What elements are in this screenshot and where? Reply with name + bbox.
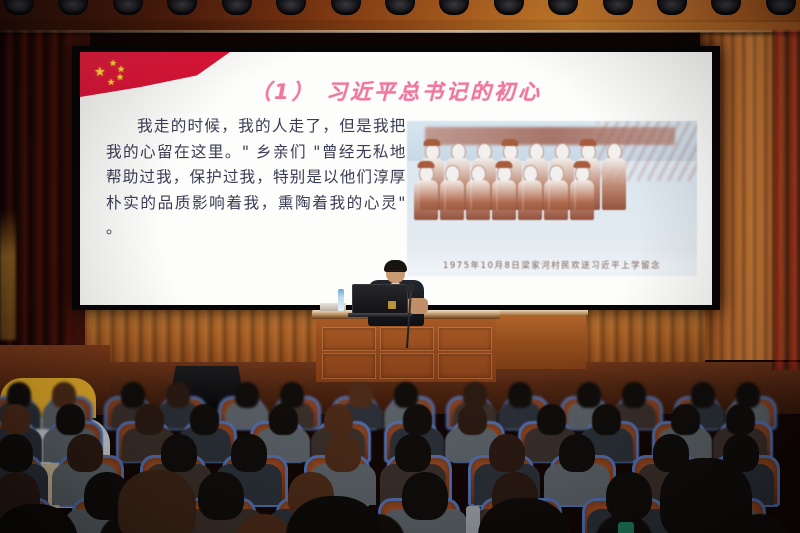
audience-person-head <box>231 434 267 472</box>
laptop-lid <box>352 284 408 314</box>
slide-body-text: 我走的时候，我的人走了，但是我把我的心留在这里。" 乡亲们 "曾经无私地帮助过我… <box>106 114 406 242</box>
photo-caption: 1975年10月8日梁家河村民欢送习近平上学留念 <box>407 259 697 271</box>
ceiling-spotlight-row <box>0 0 800 16</box>
photo-front-row <box>413 165 595 220</box>
audience-person-head <box>325 434 361 472</box>
audience-area <box>0 378 800 533</box>
presenter-glasses <box>387 270 404 275</box>
side-table-top <box>496 310 588 315</box>
flag-star-small-1: ★ <box>109 59 117 68</box>
photo-figure-body <box>518 180 542 220</box>
stage-spotlight-3 <box>113 0 143 15</box>
audience-person-head <box>349 382 373 408</box>
audience-person-head <box>235 382 259 408</box>
photo-figure <box>602 143 626 210</box>
photo-figure <box>492 165 516 220</box>
photo-figure <box>570 165 594 220</box>
stage-spotlight-1 <box>4 0 34 15</box>
audience-person-head <box>458 404 487 435</box>
stage-spotlight-10 <box>494 0 524 15</box>
stage-spotlight-14 <box>711 0 741 15</box>
photo-figure <box>440 165 464 220</box>
audience-person-head <box>592 404 621 435</box>
photo-figure-hat <box>502 139 519 146</box>
lectern-panel-4 <box>322 353 376 379</box>
audience-person-head <box>166 382 190 408</box>
lectern-panel-5 <box>380 353 434 379</box>
stage-spotlight-4 <box>167 0 197 15</box>
photo-figure-hat <box>496 161 513 168</box>
laptop-logo <box>388 301 396 309</box>
photo-figure-body <box>466 180 490 220</box>
audience-person-head <box>198 472 244 520</box>
stage-spotlight-6 <box>276 0 306 15</box>
right-stage-curtain <box>772 30 800 370</box>
audience-person-head <box>402 472 448 520</box>
stage-spotlight-15 <box>766 0 796 15</box>
audience-person-head <box>606 472 652 520</box>
audience-person-left <box>0 504 78 533</box>
stage-spotlight-7 <box>331 0 361 15</box>
audience-person-head <box>671 404 700 435</box>
photo-figure-body <box>602 158 626 210</box>
audience-person-head <box>489 434 525 472</box>
photo-figure-body <box>440 180 464 220</box>
photo-figure <box>466 165 490 220</box>
audience-person-head <box>622 382 646 408</box>
audience-person-head <box>0 434 33 472</box>
audience-person-head <box>269 404 298 435</box>
audience-person-head <box>324 404 353 435</box>
photo-figure-body <box>414 180 438 220</box>
audience-person-head <box>691 382 715 408</box>
audience-person-head <box>395 434 431 472</box>
audience-person-right <box>660 458 752 533</box>
lecture-hall-photo: ★ ★ ★ ★ ★ （1） 习近平总书记的初心 我走的时候，我的人走了，但是我把… <box>0 0 800 533</box>
photo-figure-hat <box>424 139 441 146</box>
photo-figure <box>544 165 568 220</box>
audience-person-head <box>161 434 197 472</box>
left-curtain-gold-highlight <box>0 210 16 340</box>
photo-figure-body <box>544 180 568 220</box>
slide-title: （1） 习近平总书记的初心 <box>80 76 712 106</box>
stage-spotlight-13 <box>657 0 687 15</box>
audience-person-head <box>56 404 85 435</box>
audience-person-head <box>121 382 145 408</box>
side-table <box>496 313 586 369</box>
stage-spotlight-8 <box>385 0 415 15</box>
audience-person-head <box>577 382 601 408</box>
audience-person-head <box>1 404 30 435</box>
audience-person-head <box>403 404 432 435</box>
desk-water-bottle <box>338 289 344 311</box>
green-thermos <box>618 522 634 533</box>
audience-person-brown-hair <box>118 470 196 533</box>
historic-group-photo: 1975年10月8日梁家河村民欢送习近平上学留念 <box>407 121 697 276</box>
stage-spotlight-5 <box>222 0 252 15</box>
audience-person-head <box>135 404 164 435</box>
audience-person-head <box>537 404 566 435</box>
stage-spotlight-2 <box>58 0 88 15</box>
ceiling-light-glow <box>0 30 800 33</box>
photo-figure <box>414 165 438 220</box>
audience-person-head <box>559 434 595 472</box>
photo-figure-body <box>492 180 516 220</box>
laptop-base <box>348 313 412 317</box>
photo-figure-hat <box>580 139 597 146</box>
presenter-laptop <box>352 284 408 314</box>
lectern-panel-3 <box>438 327 492 351</box>
photo-figure <box>518 165 542 220</box>
lectern-front <box>316 319 496 382</box>
stage-spotlight-11 <box>548 0 578 15</box>
stage-spotlight-9 <box>439 0 469 15</box>
audience-person-head <box>726 404 755 435</box>
audience-person-head <box>190 404 219 435</box>
stage-spotlight-12 <box>603 0 633 15</box>
lectern-panel-1 <box>322 327 376 351</box>
audience-person-head <box>67 434 103 472</box>
photo-figure-hat <box>574 161 591 168</box>
photo-figure-body <box>570 180 594 220</box>
audience-person-head <box>508 382 532 408</box>
photo-figure-hat <box>418 161 435 168</box>
microphone-head <box>404 284 415 292</box>
lectern-panel-6 <box>438 353 492 379</box>
